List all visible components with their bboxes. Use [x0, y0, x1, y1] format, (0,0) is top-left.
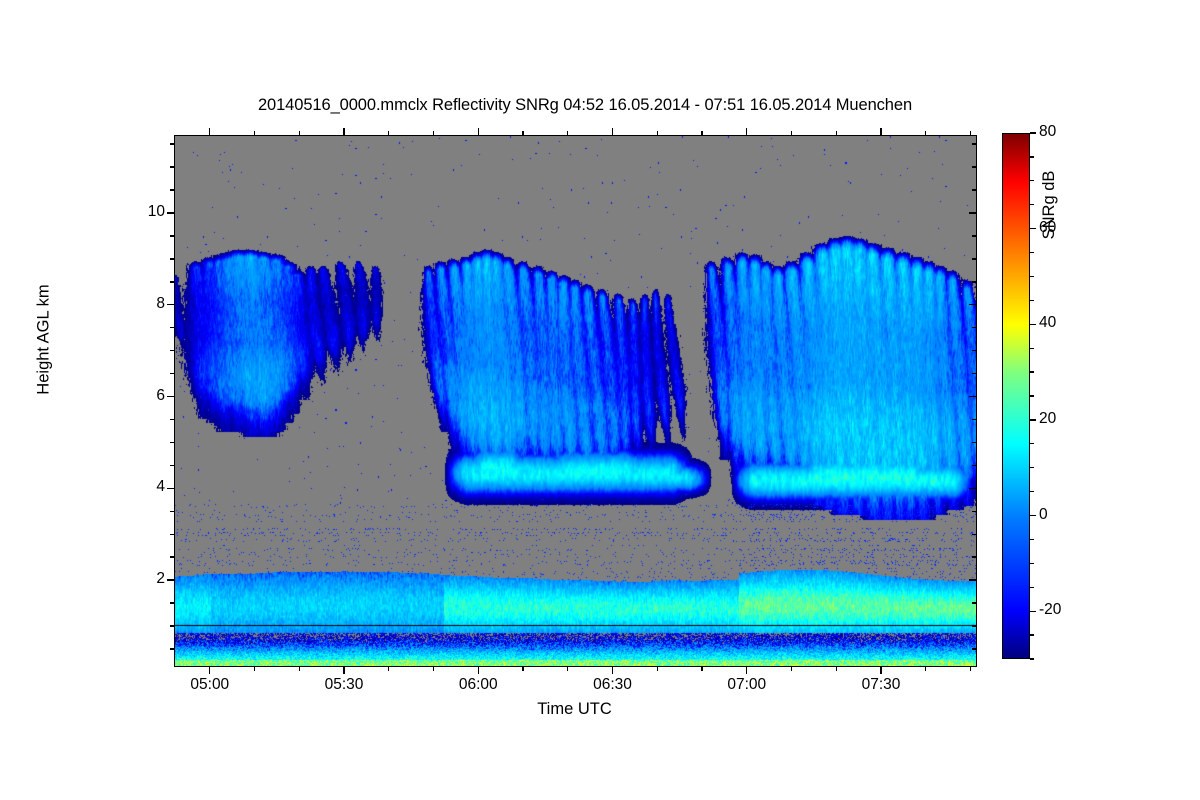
figure-title: 20140516_0000.mmclx Reflectivity SNRg 04…	[0, 96, 1170, 115]
y-tick	[167, 396, 174, 397]
y-tick	[972, 373, 976, 374]
x-tick	[791, 131, 792, 135]
x-tick	[880, 128, 881, 135]
y-tick	[170, 166, 174, 167]
x-tick	[970, 131, 971, 135]
y-tick	[972, 625, 976, 626]
colorbar-tick	[1030, 300, 1034, 301]
colorbar-tick	[1030, 611, 1036, 612]
y-tick	[972, 602, 976, 603]
colorbar-tick	[1030, 658, 1034, 659]
radar-figure: 20140516_0000.mmclx Reflectivity SNRg 04…	[0, 0, 1200, 800]
x-tick	[478, 667, 479, 674]
x-tick	[388, 131, 389, 135]
y-tick	[170, 534, 174, 535]
y-tick	[170, 419, 174, 420]
y-tick	[170, 511, 174, 512]
y-tick-label: 10	[105, 203, 165, 221]
x-tick-label: 05:30	[299, 676, 389, 694]
x-tick	[657, 667, 658, 671]
x-tick	[791, 667, 792, 671]
colorbar-tick	[1030, 228, 1036, 229]
x-tick	[746, 667, 747, 674]
y-tick	[972, 143, 976, 144]
colorbar-tick	[1030, 443, 1034, 444]
y-tick	[170, 258, 174, 259]
x-tick	[522, 131, 523, 135]
x-tick	[343, 667, 344, 674]
x-tick	[612, 128, 613, 135]
x-tick	[836, 131, 837, 135]
colorbar-tick	[1030, 563, 1034, 564]
y-tick	[170, 442, 174, 443]
colorbar-tick	[1030, 467, 1034, 468]
y-tick	[170, 602, 174, 603]
colorbar-tick	[1030, 156, 1034, 157]
x-tick	[299, 131, 300, 135]
y-tick	[972, 258, 976, 259]
y-axis-title: Height AGL km	[35, 210, 54, 470]
x-tick-label: 05:00	[165, 676, 255, 694]
x-tick	[343, 128, 344, 135]
y-tick	[170, 143, 174, 144]
y-tick	[972, 281, 976, 282]
y-tick	[170, 648, 174, 649]
x-tick-label: 06:30	[568, 676, 658, 694]
x-tick	[925, 667, 926, 671]
x-tick	[522, 667, 523, 671]
x-tick	[478, 128, 479, 135]
x-tick	[612, 667, 613, 674]
x-tick	[925, 131, 926, 135]
y-tick	[170, 189, 174, 190]
y-tick	[969, 304, 976, 305]
colorbar-tick-label: 40	[1039, 314, 1056, 332]
x-tick	[209, 667, 210, 674]
colorbar-tick-label: -20	[1039, 601, 1061, 619]
colorbar-tick	[1030, 204, 1034, 205]
x-tick	[567, 131, 568, 135]
x-tick	[746, 128, 747, 135]
x-tick	[567, 667, 568, 671]
colorbar-tick	[1030, 252, 1034, 253]
y-tick	[170, 556, 174, 557]
y-tick	[972, 419, 976, 420]
y-tick	[972, 166, 976, 167]
y-tick	[170, 235, 174, 236]
colorbar-tick	[1030, 515, 1036, 516]
colorbar-tick	[1030, 419, 1036, 420]
colorbar-tick	[1030, 634, 1034, 635]
y-tick	[170, 625, 174, 626]
y-tick	[972, 442, 976, 443]
colorbar[interactable]	[1002, 133, 1030, 659]
colorbar-title: SNRg dB	[1040, 110, 1059, 300]
colorbar-tick-label: 20	[1039, 410, 1056, 428]
x-tick	[388, 667, 389, 671]
x-tick-label: 07:00	[702, 676, 792, 694]
colorbar-tick-label: 0	[1039, 506, 1048, 524]
y-tick	[170, 281, 174, 282]
y-tick	[167, 579, 174, 580]
y-tick	[972, 465, 976, 466]
y-tick	[969, 488, 976, 489]
y-tick	[972, 350, 976, 351]
y-tick	[969, 579, 976, 580]
y-tick	[972, 556, 976, 557]
y-tick	[972, 534, 976, 535]
y-tick-label: 8	[105, 295, 165, 313]
x-tick	[254, 667, 255, 671]
x-tick	[701, 131, 702, 135]
colorbar-tick	[1030, 180, 1034, 181]
x-axis-title: Time UTC	[174, 700, 975, 719]
plot-area[interactable]	[174, 135, 977, 667]
y-tick	[969, 212, 976, 213]
y-tick	[972, 235, 976, 236]
colorbar-tick	[1030, 324, 1036, 325]
y-tick-label: 4	[105, 478, 165, 496]
colorbar-tick	[1030, 539, 1034, 540]
x-tick	[299, 667, 300, 671]
colorbar-tick	[1030, 491, 1034, 492]
x-tick-label: 07:30	[836, 676, 926, 694]
colorbar-tick	[1030, 132, 1036, 133]
x-tick	[254, 131, 255, 135]
x-tick	[209, 128, 210, 135]
y-tick	[167, 304, 174, 305]
colorbar-tick	[1030, 348, 1034, 349]
x-tick	[433, 667, 434, 671]
colorbar-tick	[1030, 371, 1034, 372]
x-tick	[836, 667, 837, 671]
y-tick	[170, 350, 174, 351]
y-tick-label: 6	[105, 387, 165, 405]
y-tick	[167, 212, 174, 213]
y-tick	[972, 189, 976, 190]
y-tick	[972, 511, 976, 512]
colorbar-tick	[1030, 395, 1034, 396]
x-tick	[701, 667, 702, 671]
reflectivity-heatmap	[175, 136, 976, 666]
colorbar-tick	[1030, 276, 1034, 277]
y-tick	[170, 327, 174, 328]
y-tick	[167, 488, 174, 489]
x-tick	[970, 667, 971, 671]
y-tick	[972, 327, 976, 328]
y-tick	[972, 648, 976, 649]
colorbar-tick	[1030, 587, 1034, 588]
y-tick	[969, 396, 976, 397]
y-tick	[170, 373, 174, 374]
x-tick	[657, 131, 658, 135]
x-tick	[880, 667, 881, 674]
y-tick-label: 2	[105, 570, 165, 588]
x-tick-label: 06:00	[433, 676, 523, 694]
y-tick	[170, 465, 174, 466]
x-tick	[433, 131, 434, 135]
